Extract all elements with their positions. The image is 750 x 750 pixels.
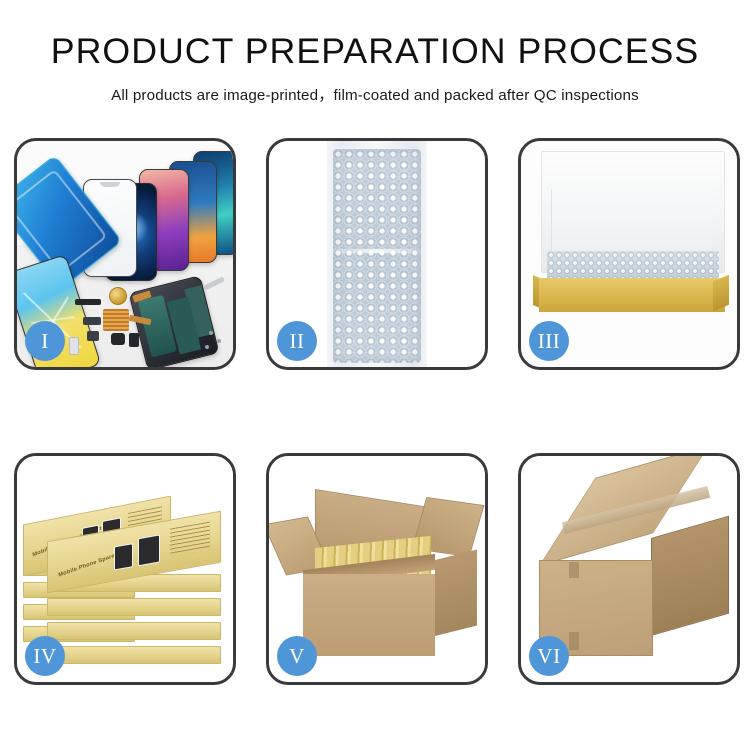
step-badge-2: II (277, 321, 317, 361)
stacked-box-fr-2 (47, 574, 221, 592)
stacked-box-fr-4 (47, 622, 221, 640)
carton-seam-bottom (569, 632, 579, 650)
inner-box-lid-inner-face (551, 189, 712, 269)
step-panel-6[interactable]: VI (518, 453, 740, 685)
step-badge-4: IV (25, 636, 65, 676)
part-connector-strip (75, 299, 101, 305)
box-screen-bl-b (102, 517, 121, 545)
inner-box-right-wall (713, 275, 729, 311)
stacked-box-bl-3 (23, 582, 135, 598)
part-ic-chip-b (87, 331, 99, 341)
box-label-fr: Mobile Phone Spare Parts (58, 547, 132, 578)
process-steps-grid: I II III (0, 138, 750, 690)
carton-right-flap (412, 497, 485, 557)
phone-purple-gradient (139, 169, 189, 271)
carton-front-face (303, 574, 435, 656)
phone-huawei-gradient (169, 161, 217, 263)
box-screen-fr-b (138, 534, 160, 566)
carton-top-rim (303, 554, 435, 586)
sealed-carton-side-face (651, 516, 729, 636)
screw-b (217, 339, 221, 343)
bubble-wrap (333, 149, 421, 363)
bubble-wrap-seam (331, 249, 423, 253)
screw-a (209, 331, 213, 335)
phone-teal-wave (193, 151, 233, 255)
carton-left-flap (269, 516, 331, 575)
step-badge-3: III (529, 321, 569, 361)
carton-contents-yellow-boxes (315, 536, 431, 588)
stacked-box-bl-top: Mobile Phone Spare Parts (23, 496, 171, 577)
page-subtitle: All products are image-printed，film-coat… (0, 83, 750, 105)
stacked-box-fr-5 (47, 646, 221, 664)
step-panel-1[interactable]: I (14, 138, 236, 370)
box-label-bl: Mobile Phone Spare Parts (32, 525, 106, 559)
camera-lens-part (109, 287, 127, 305)
stacked-box-bl-2 (23, 560, 135, 576)
inner-box-left-wall (533, 275, 547, 311)
stacked-box-fr-top: Mobile Phone Spare Parts (47, 511, 221, 594)
part-sim-tray (69, 337, 79, 355)
inner-box-lid (541, 151, 725, 273)
box-screen-bl-a (82, 525, 99, 550)
carton-back-flap (315, 489, 429, 571)
tempered-glass-protector (83, 179, 137, 277)
stacked-box-bl-4 (23, 604, 135, 620)
phone-jellyfish-wallpaper (105, 183, 157, 281)
adhesive-frame (17, 155, 123, 290)
page-header: PRODUCT PREPARATION PROCESS All products… (0, 0, 750, 105)
step-badge-1: I (25, 321, 65, 361)
step-panel-3[interactable]: III (518, 138, 740, 370)
step-badge-6: VI (529, 636, 569, 676)
box-spec-lines-bl (128, 506, 162, 539)
step-badge-5: V (277, 636, 317, 676)
sealed-carton-tape (562, 486, 710, 534)
screw-c (205, 345, 209, 349)
bubble-wrapped-product-in-box (547, 251, 719, 281)
part-shield-grid (103, 309, 129, 331)
page-title: PRODUCT PREPARATION PROCESS (0, 34, 750, 71)
phone-opened-logic-board (128, 275, 219, 367)
carton-seam-top (569, 562, 579, 578)
box-screen-fr-a (114, 543, 133, 570)
tweezers-tool (203, 276, 225, 290)
part-ic-chip-a (83, 317, 101, 325)
sealed-carton-top-face (539, 456, 709, 566)
part-flex-cable-a (132, 290, 151, 302)
step-panel-5[interactable]: V (266, 453, 488, 685)
part-speaker (111, 333, 125, 345)
part-battery-cell (129, 333, 139, 347)
stacked-box-fr-3 (47, 598, 221, 616)
step-panel-2[interactable]: II (266, 138, 488, 370)
step-panel-4[interactable]: Mobile Phone Spare Parts Mobile Phone Sp… (14, 453, 236, 685)
carton-right-face (435, 550, 477, 636)
inner-box-tray (539, 278, 725, 312)
part-flex-cable-b (129, 315, 152, 325)
plastic-sleeve (327, 141, 427, 367)
box-spec-lines-fr (170, 522, 210, 557)
